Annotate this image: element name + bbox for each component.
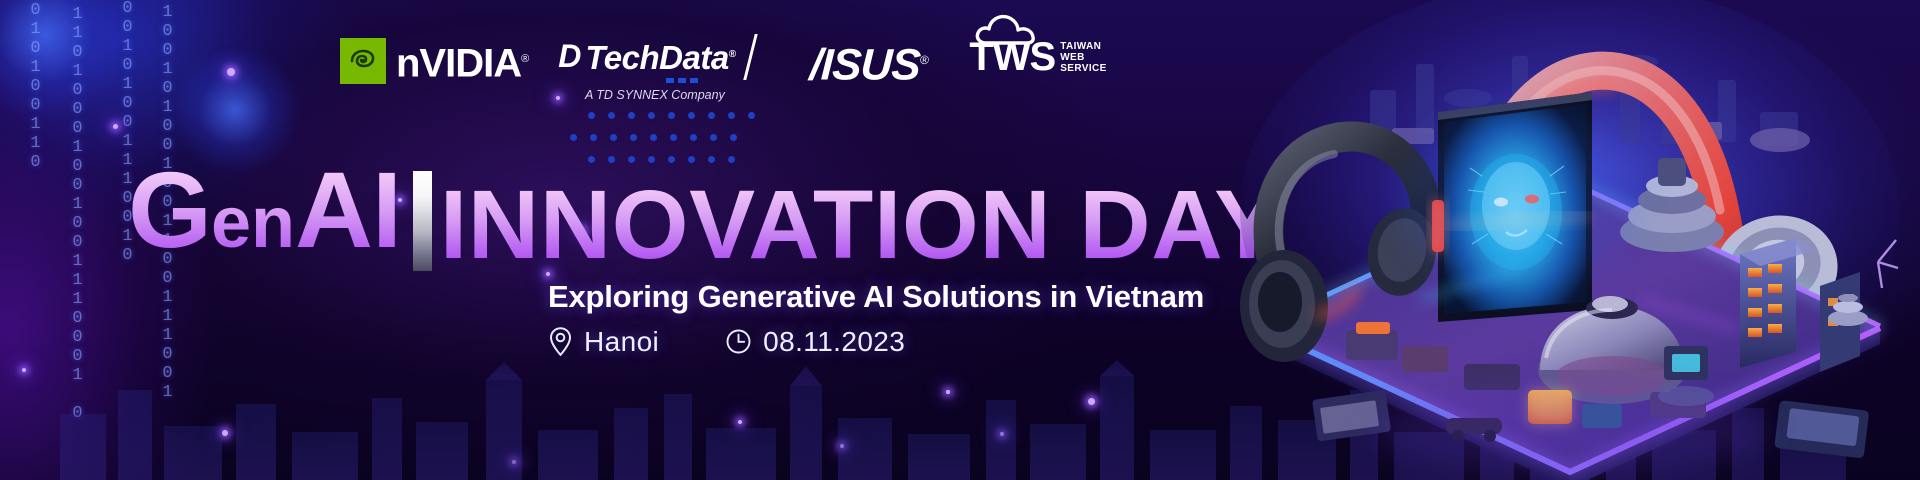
- cloud-icon: [975, 12, 1049, 46]
- particle: [946, 390, 950, 394]
- location-pin-icon: [548, 326, 573, 357]
- partner-logo-row: nVIDIA® D TechData® A TD SYNNEX Company …: [340, 38, 1107, 102]
- meta-item-date: 08.11.2023: [725, 327, 905, 357]
- blue-glow-left: [0, 0, 130, 120]
- tech-data-monogram: D: [558, 40, 579, 72]
- binary-stream-1: 0010100110: [26, 0, 45, 172]
- tech-data-wordmark: TechData®: [585, 38, 735, 74]
- event-subtitle: Exploring Generative AI Solutions in Vie…: [548, 280, 1204, 314]
- brand-genai: GenAI: [128, 160, 401, 273]
- headline-group: GenAI INNOVATION DAY: [128, 160, 1272, 273]
- tws-sub-label: TAIWAN WEB SERVICE: [1060, 41, 1107, 74]
- clock-icon: [725, 328, 752, 355]
- logo-tech-data[interactable]: D TechData® A TD SYNNEX Company: [558, 38, 751, 102]
- particle: [227, 68, 235, 76]
- ai-tech-illustration: [1220, 0, 1920, 480]
- particle: [840, 444, 844, 448]
- city-skyline-silhouette: [0, 360, 1920, 480]
- particle: [738, 420, 742, 424]
- binary-stream-2: 011010001001001110001 0: [68, 0, 87, 423]
- asus-wordmark: /ISUS®: [808, 38, 928, 88]
- meta-date-label: 08.11.2023: [763, 327, 905, 357]
- particle: [1000, 432, 1004, 436]
- dot-grid-pattern: [588, 112, 788, 166]
- tech-data-tagline: A TD SYNNEX Company: [585, 88, 725, 102]
- particle: [113, 124, 118, 129]
- particle: [1088, 398, 1095, 405]
- tws-sub-line-3: SERVICE: [1060, 63, 1107, 74]
- tws-sub-line-2: WEB: [1060, 52, 1107, 63]
- meta-item-location: Hanoi: [548, 326, 659, 357]
- tech-data-tick-marks: [666, 78, 698, 83]
- headline-divider-bar: [413, 171, 432, 271]
- logo-taiwan-web-service[interactable]: TWS TAIWAN WEB SERVICE: [969, 38, 1106, 76]
- tws-sub-line-1: TAIWAN: [1060, 41, 1107, 52]
- brand-cap-g: G: [128, 149, 211, 270]
- tech-data-slash-mark: [743, 34, 757, 80]
- particle: [512, 460, 516, 464]
- brand-cap-ai: AI: [295, 149, 401, 270]
- particle: [222, 430, 228, 436]
- particle: [22, 368, 26, 372]
- meta-location-label: Hanoi: [584, 327, 659, 357]
- nvidia-eye-icon: [340, 38, 386, 84]
- event-meta-row: Hanoi 08.11.2023: [548, 326, 905, 357]
- headline-main: INNOVATION DAY: [440, 177, 1281, 273]
- logo-asus[interactable]: /ISUS®: [810, 38, 928, 88]
- event-banner: 0010100110 011010001001001110001 0 10010…: [0, 0, 1920, 480]
- brand-small-en: en: [211, 183, 295, 263]
- nvidia-wordmark: nVIDIA®: [396, 39, 528, 83]
- logo-nvidia[interactable]: nVIDIA®: [340, 38, 528, 84]
